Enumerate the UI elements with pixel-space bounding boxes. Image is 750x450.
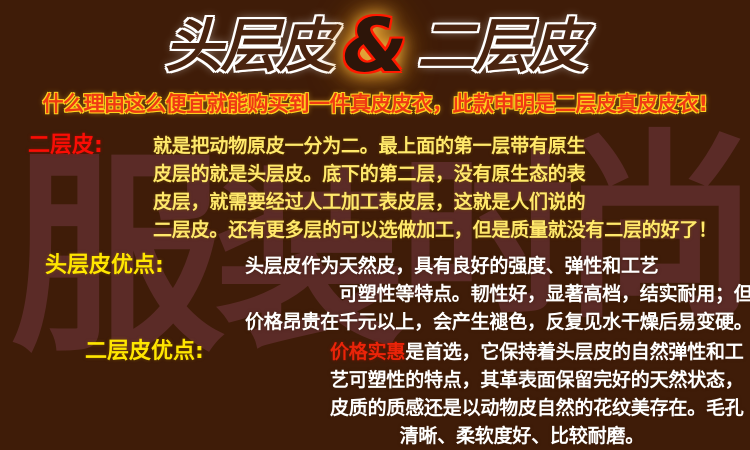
section-3-line-1: 价格实惠是首选，它保持着头层皮的自然弹性和工 (330, 338, 744, 366)
section-3-line-3: 皮质的质感还是以动物皮自然的花纹美存在。毛孔 (330, 394, 744, 422)
content-layer: 头层皮 & 二层皮 什么理由这么便宜就能购买到一件真皮皮衣，此款申明是二层皮真皮… (0, 0, 750, 450)
section-2-label: 头层皮优点: (0, 252, 245, 280)
section-3-label: 二层皮优点: (0, 338, 330, 366)
section-2-line-1: 头层皮作为天然皮，具有良好的强度、弹性和工艺 (245, 252, 750, 280)
section-3-line-1-rest: 是首选，它保持着头层皮的自然弹性和工 (405, 341, 743, 363)
section-1-body: 就是把动物原皮一分为二。最上面的第一层带有原生 皮层的就是头层皮。底下的第二层，… (153, 132, 750, 244)
section-3-line-2: 艺可塑性的特点，其革表面保留完好的天然状态， (330, 366, 744, 394)
section-2-body: 头层皮作为天然皮，具有良好的强度、弹性和工艺 可塑性等特点。韧性好，显著高档，结… (245, 252, 750, 336)
section-second-layer-advantages: 二层皮优点: 价格实惠是首选，它保持着头层皮的自然弹性和工 艺可塑性的特点，其革… (0, 338, 750, 450)
section-2-line-2: 可塑性等特点。韧性好，显著高档，结实耐用；但 (245, 280, 750, 308)
section-1-line-1: 就是把动物原皮一分为二。最上面的第一层带有原生 (153, 132, 750, 160)
leather-info-banner: 服 装 时 尚 头层皮 & 二层皮 什么理由这么便宜就能购买到一件真皮皮衣，此款… (0, 0, 750, 450)
headline: 头层皮 & 二层皮 (0, 6, 750, 86)
price-highlight: 价格实惠 (330, 341, 405, 363)
section-2-line-3: 价格昂贵在千元以上，会产生褪色，反复见水干燥后易变硬。 (245, 308, 750, 336)
headline-left-word: 头层皮 (165, 17, 333, 75)
ampersand-glyph: & (341, 9, 410, 83)
headline-right-word: 二层皮 (417, 17, 585, 75)
section-1-line-4: 二层皮。还有更多层的可以选做加工，但是质量就没有二层的好了！ (153, 216, 750, 244)
section-3-line-4: 清晰、柔软度好、比较耐磨。 (330, 422, 744, 450)
section-1-line-2: 皮层的就是头层皮。底下的第二层，没有原生态的表 (153, 160, 750, 188)
section-1-line-3: 皮层，就需要经过人工加工表皮层，这就是人们说的 (153, 188, 750, 216)
subtitle-text: 什么理由这么便宜就能购买到一件真皮皮衣，此款申明是二层皮真皮皮衣! (0, 92, 750, 117)
section-top-layer-advantages: 头层皮优点: 头层皮作为天然皮，具有良好的强度、弹性和工艺 可塑性等特点。韧性好… (0, 252, 750, 336)
section-second-layer-definition: 二层皮: 就是把动物原皮一分为二。最上面的第一层带有原生 皮层的就是头层皮。底下… (0, 132, 750, 244)
section-3-body: 价格实惠是首选，它保持着头层皮的自然弹性和工 艺可塑性的特点，其革表面保留完好的… (330, 338, 750, 450)
section-1-label: 二层皮: (0, 132, 153, 160)
